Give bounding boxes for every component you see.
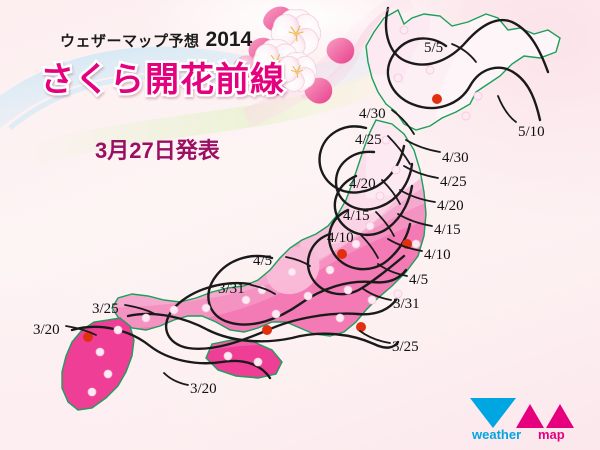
publish-date: 3月27日発表 — [95, 133, 220, 165]
date-label-4-30: 4/30 — [359, 106, 386, 123]
forecast-year: 2014 — [206, 28, 253, 51]
logo-text-map: map — [538, 427, 565, 442]
date-label-3-31: 3/31 — [218, 281, 245, 298]
logo-text-weather: weather — [471, 427, 521, 442]
date-label-4-15: 4/15 — [434, 222, 461, 239]
date-label-4-20: 4/20 — [349, 176, 376, 193]
kicker-text: ウェザーマップ予想 — [60, 33, 200, 50]
date-label-4-30: 4/30 — [442, 150, 469, 167]
date-label-5-10: 5/10 — [518, 124, 545, 141]
logo-m-triangle-left — [516, 404, 544, 428]
date-label-3-25: 3/25 — [92, 301, 119, 318]
weather-map-logo[interactable]: weather map — [460, 394, 592, 442]
page-title: さくら開花前線 — [40, 52, 285, 101]
date-label-4-5: 4/5 — [253, 253, 272, 270]
date-label-3-20: 3/20 — [190, 381, 217, 398]
sakura-forecast-map: ウェザーマップ予想2014 さくら開花前線 3月27日発表 5/55/104/3… — [0, 0, 600, 450]
kicker-line: ウェザーマップ予想2014 — [60, 28, 252, 52]
date-label-3-20: 3/20 — [33, 322, 60, 339]
date-label-4-20: 4/20 — [437, 198, 464, 215]
date-label-4-25: 4/25 — [440, 174, 467, 191]
date-label-4-10: 4/10 — [424, 247, 451, 264]
date-label-4-15: 4/15 — [343, 208, 370, 225]
date-label-5-5: 5/5 — [424, 40, 443, 57]
date-label-4-10: 4/10 — [327, 230, 354, 247]
date-label-3-25: 3/25 — [392, 339, 419, 356]
logo-m-triangle-right — [546, 404, 574, 428]
date-label-4-25: 4/25 — [355, 132, 382, 149]
date-label-3-31: 3/31 — [393, 296, 420, 313]
date-label-4-5: 4/5 — [409, 272, 428, 289]
logo-w-triangle — [470, 398, 516, 428]
